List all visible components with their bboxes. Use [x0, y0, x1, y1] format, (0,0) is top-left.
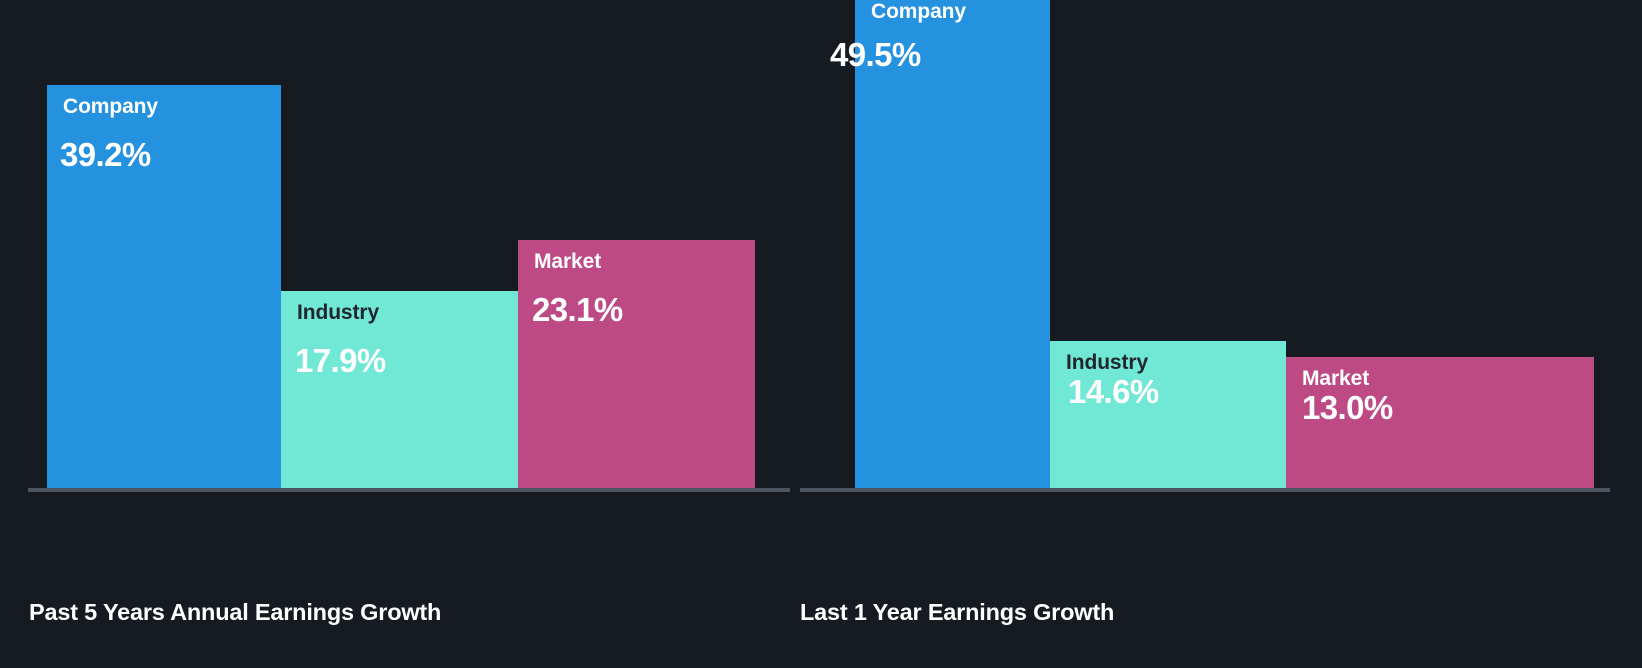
bar-market-past-5-years[interactable]: Market: [518, 240, 755, 488]
earnings-growth-chart: Company 39.2% Industry 17.9% Market 23.1…: [0, 0, 1642, 668]
plot-area-past-5-years: Company 39.2% Industry 17.9% Market 23.1…: [0, 0, 800, 578]
bar-industry-past-5-years[interactable]: Industry: [281, 291, 518, 488]
bar-value-company-past-5-years: 39.2%: [60, 138, 151, 171]
bar-label-market-past-5-years: Market: [534, 251, 601, 272]
bar-value-market-past-5-years: 23.1%: [532, 293, 623, 326]
bar-value-company-last-1-year: 49.5%: [830, 38, 921, 71]
chart-panel-last-1-year: Company 49.5% Industry 14.6% Market 13.0…: [800, 0, 1642, 668]
bar-value-industry-last-1-year: 14.6%: [1068, 375, 1159, 408]
bar-label-company-past-5-years: Company: [63, 96, 158, 117]
plot-area-last-1-year: Company 49.5% Industry 14.6% Market 13.0…: [800, 0, 1642, 578]
bar-label-industry-past-5-years: Industry: [297, 302, 379, 323]
bar-company-last-1-year[interactable]: Company: [855, 0, 1050, 488]
bar-industry-last-1-year[interactable]: Industry: [1050, 341, 1286, 488]
chart-panel-past-5-years: Company 39.2% Industry 17.9% Market 23.1…: [0, 0, 800, 668]
bar-label-company-last-1-year: Company: [871, 1, 966, 22]
bar-value-industry-past-5-years: 17.9%: [295, 344, 386, 377]
chart-title-past-5-years: Past 5 Years Annual Earnings Growth: [29, 601, 441, 625]
bar-label-industry-last-1-year: Industry: [1066, 352, 1148, 373]
chart-title-last-1-year: Last 1 Year Earnings Growth: [800, 601, 1114, 625]
baseline-axis-past-5-years: [28, 488, 790, 492]
bar-label-market-last-1-year: Market: [1302, 368, 1369, 389]
baseline-axis-last-1-year: [800, 488, 1610, 492]
bar-value-market-last-1-year: 13.0%: [1302, 391, 1393, 424]
